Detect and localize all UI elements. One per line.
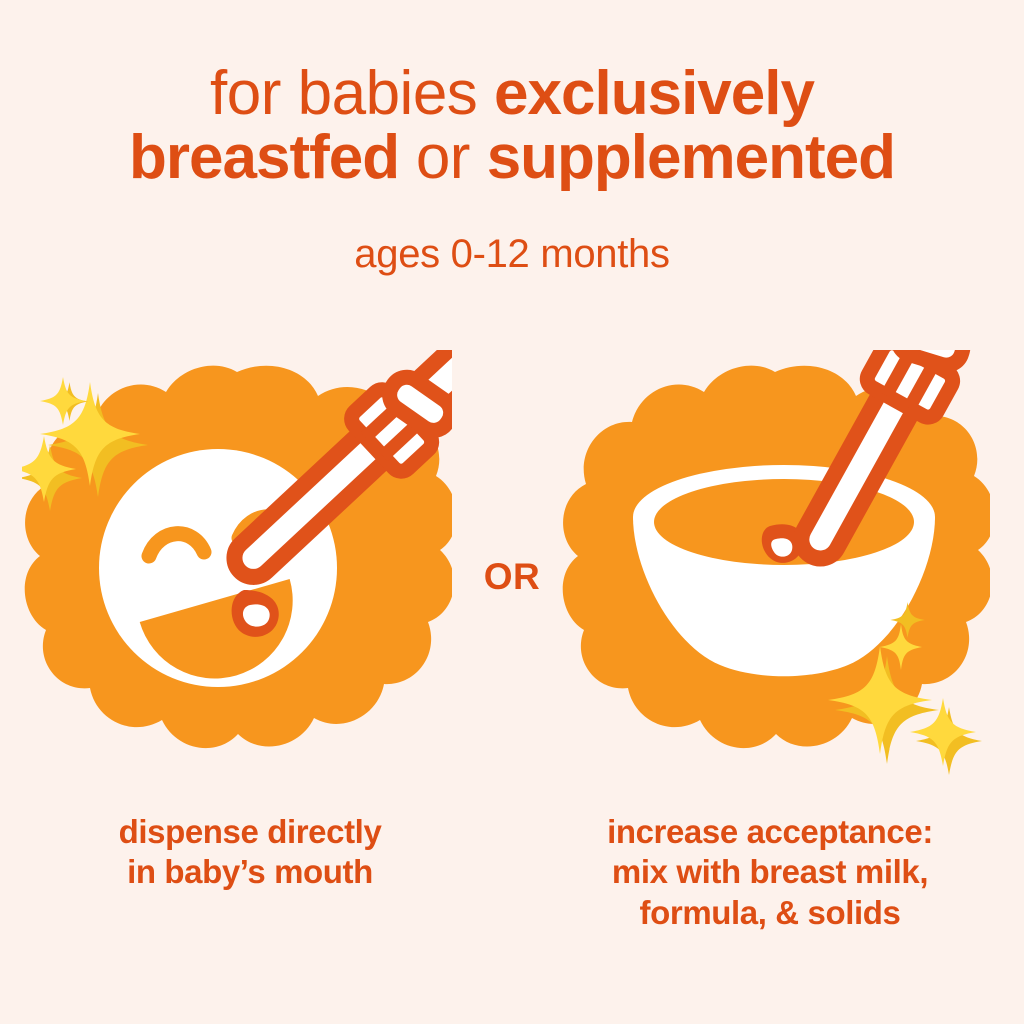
caption-left-line-2: in baby’s mouth <box>30 852 470 892</box>
bowl-with-dropper-icon <box>560 350 990 780</box>
headline-line-1-plain: for babies <box>210 59 494 128</box>
or-divider-label: OR <box>462 556 562 598</box>
page-title: for babies exclusively breastfed or supp… <box>0 62 1024 191</box>
headline-line-1-bold: exclusively <box>494 59 814 128</box>
caption-dispense-directly: dispense directly in baby’s mouth <box>30 812 470 893</box>
smiling-baby-face-with-dropper-icon <box>22 350 452 780</box>
headline-line-1: for babies exclusively <box>0 62 1024 126</box>
headline-line-2-bold-a: breastfed <box>129 123 399 192</box>
caption-left-line-1: dispense directly <box>30 812 470 852</box>
caption-right-line-1: increase acceptance: <box>540 812 1000 852</box>
caption-mix-into-food: increase acceptance: mix with breast mil… <box>540 812 1000 933</box>
panel-dispense-directly <box>22 350 452 780</box>
panel-mix-into-food <box>560 350 990 780</box>
headline-line-2: breastfed or supplemented <box>0 126 1024 190</box>
headline-line-2-bold-b: supplemented <box>487 123 895 192</box>
page-subtitle: ages 0-12 months <box>0 232 1024 277</box>
caption-right-line-2: mix with breast milk, <box>540 852 1000 892</box>
headline-line-2-plain: or <box>399 123 487 192</box>
caption-right-line-3: formula, & solids <box>540 893 1000 933</box>
infographic-poster: for babies exclusively breastfed or supp… <box>0 0 1024 1024</box>
